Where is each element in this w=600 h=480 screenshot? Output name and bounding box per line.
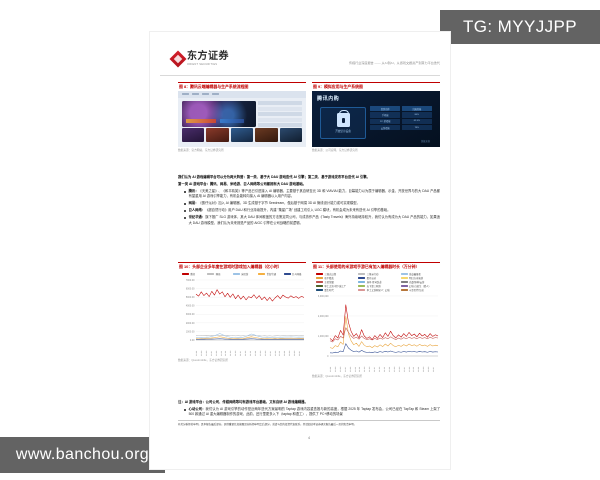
list-item: 网易：《蛋仔派对》加入 AI 编辑器，3D 生成基于字节 Seedream，做后…	[178, 201, 440, 206]
logo-text-en: ORIENT SECURITIES	[187, 64, 229, 67]
svg-text:7000.00: 7000.00	[186, 279, 195, 282]
bullet-label: 巨人网络：	[189, 208, 205, 212]
chart-svg: 7000.006000.005000.004000.003000.002000.…	[178, 278, 306, 342]
chart-10-caption: 图 10：头部企业多年度在游戏时游戏加入编辑器（亿小时）	[178, 262, 306, 271]
orient-securities-logo: 东方证券 ORIENT SECURITIES	[172, 52, 229, 66]
legend-item: 斗罗历代/互动	[401, 288, 440, 292]
header-divider	[160, 75, 440, 76]
chart-10-legend: 腾讯网易米哈游世纪华通巨人网络	[178, 271, 306, 278]
chart-svg: 3,000,0002,000,0001,000,0000	[312, 294, 440, 358]
figure-9-source: 数据来源：公司官网，东方证券研究所	[312, 147, 440, 152]
svg-text:1,000,000: 1,000,000	[318, 335, 329, 338]
x-tick-label: 23-09	[350, 358, 355, 372]
legend-label: 斗罗历代/互动	[409, 288, 424, 292]
x-tick-label: 26-07	[299, 342, 304, 356]
legend-swatch	[182, 273, 189, 274]
chart-11-source: 数据来源：Questmobile，东方证券研究所	[312, 372, 440, 378]
x-tick-label: 25-07	[270, 342, 275, 356]
legend-item: 腾讯	[182, 272, 204, 276]
bullet-label: 心动公司：	[189, 407, 206, 411]
legend-item: 米哈游	[233, 272, 255, 276]
legend-item: 重生时代	[316, 288, 355, 292]
hero-banner	[182, 101, 256, 127]
table-row: 手机端86%	[370, 112, 432, 117]
legend-swatch	[401, 285, 408, 286]
figure-9: 图 9：模拟应用与生产系统图 腾讯内购 开放显示设备 类别名称归属终端 手机端8…	[312, 82, 440, 152]
legend-label: 率土之滨网易 2：幻塔	[367, 288, 390, 292]
x-tick-label: 25-03	[394, 358, 399, 372]
legend-swatch	[316, 273, 323, 274]
legend-swatch	[316, 281, 323, 282]
chart-11-caption: 图 11：头部使用的米游戏手游已有加入编辑器时长（万分钟）	[312, 262, 440, 271]
document-header: 东方证券 ORIENT SECURITIES 传媒行业深度报告 —— 从AI到A…	[150, 50, 450, 76]
legend-swatch	[358, 285, 365, 286]
chart-figure-11: 图 11：头部使用的米游戏手游已有加入编辑器时长（万分钟） 三国志幻想三角洲行动…	[312, 262, 440, 378]
legend-item: 网易	[207, 272, 229, 276]
diamond-logo-icon	[170, 51, 187, 68]
figure-8-image	[178, 91, 306, 147]
legend-label: 网易	[216, 272, 221, 276]
table-row: 云游戏端78%	[370, 125, 432, 130]
bullet-text: 我们认为 AI 游戏引擎的动作是近两年迭代方案最明的 Taptap 游戏内容重迭…	[189, 407, 440, 416]
panel-icon-label: 开放显示设备	[335, 129, 351, 133]
figure-8-caption: 图 8：腾讯云端编辑器与生产系统流程图	[178, 82, 306, 91]
legend-label: 米哈游	[241, 272, 248, 276]
svg-text:5000.00: 5000.00	[186, 296, 195, 299]
panel-note: 数据来源	[421, 139, 430, 143]
lock-icon	[337, 113, 350, 127]
body-text-block: 我们认为 AI 游戏编辑平台可以分为两大阵营：第一类、基于大 DAU 游戏迭代 …	[178, 175, 440, 228]
legend-swatch	[358, 277, 365, 278]
series-line	[330, 305, 438, 341]
bullet-dot-icon	[184, 217, 186, 219]
x-tick-label: 23-09	[216, 342, 221, 356]
bullet-list: 腾讯：《天美之星》、《和平精英》等产品已引进接入 AI 编辑器，主要基于其自研至…	[178, 189, 440, 226]
list-item: 心动公司：我们认为 AI 游戏引擎的动作是近两年迭代方案最明的 Taptap 游…	[178, 407, 440, 418]
x-tick-label: 23-07	[211, 342, 216, 356]
panel-table: 类别名称归属终端 手机端86% PC·游戏端61.5% 云游戏端78%	[370, 106, 432, 130]
watermark-bottom-left: www.banchou.org	[0, 437, 165, 473]
list-item: 世纪华通：旗下推广 SLG 游戏体，其大 DAU 体间覆盖的方法策定同公司，与成…	[178, 215, 440, 226]
legend-swatch	[358, 281, 365, 282]
game-tiles	[182, 128, 302, 142]
svg-text:3,000,000: 3,000,000	[318, 295, 329, 298]
bullet-text: 《蛋仔派对》加入 AI 编辑器，3D 生成基于字节 Seedream，做后基于网…	[198, 201, 359, 205]
legend-label: 巨人网络	[292, 272, 301, 276]
svg-text:4000.00: 4000.00	[186, 305, 195, 308]
bullet-label: 网易：	[189, 201, 199, 205]
legend-swatch	[233, 273, 240, 274]
list-item: 腾讯：《天美之星》、《和平精英》等产品已引进接入 AI 编辑器，主要基于其自研至…	[178, 189, 440, 200]
bullet-dot-icon	[184, 409, 186, 411]
bullet-dot-icon	[184, 191, 186, 193]
legend-swatch	[401, 277, 408, 278]
sidebar-list	[258, 101, 302, 127]
legend-label: 重生时代	[324, 288, 333, 292]
legend-label: 腾讯	[190, 272, 195, 276]
series-line	[196, 290, 304, 301]
figure-9-caption: 图 9：模拟应用与生产系统图	[312, 82, 440, 91]
bullet-dot-icon	[184, 203, 186, 205]
x-tick-label: 26-07	[433, 358, 438, 372]
legend-item: 率土之滨网易 2：幻塔	[358, 288, 397, 292]
logo-text-cn: 东方证券	[187, 52, 229, 62]
bullet-text: 旗下推广 SLG 游戏体，其大 DAU 体间覆盖的方法策定同公司，与成熟作产品《…	[189, 215, 440, 224]
chart-figure-10: 图 10：头部企业多年度在游戏时游戏加入编辑器（亿小时） 腾讯网易米哈游世纪华通…	[178, 262, 306, 378]
note-after-charts: 注：AI 游戏平台：公司公司、传媒网络等均有游戏平台基础，又有自研 AI 游戏编…	[178, 400, 440, 405]
figure-row-top: 图 8：腾讯云端编辑器与生产系统流程图 数据来源：官方网站，东方证券研究所	[178, 82, 440, 152]
bullet-text: 《天美之星》、《和平精英》等产品已引进接入 AI 编辑器，主要基于其自研至元 3…	[189, 189, 440, 198]
x-tick-label: 23-05	[340, 358, 345, 372]
x-tick-label: 23-07	[345, 358, 350, 372]
intro-line-1: 我们认为 AI 游戏编辑平台可以分为两大阵营：第一类、基于大 DAU 游戏迭代 …	[178, 175, 440, 180]
legend-swatch	[401, 273, 408, 274]
legend-swatch	[316, 277, 323, 278]
bullet-label: 腾讯：	[189, 189, 199, 193]
bullet-text: 《超自然行动》用户 DAU 和行业持续提升，内建 "集星广场" 创建工坊引入 U…	[205, 208, 390, 212]
bullet-dot-icon	[184, 210, 186, 212]
panel-title: 腾讯内购	[317, 95, 339, 102]
figure-8-source: 数据来源：官方网站，东方证券研究所	[178, 147, 306, 152]
x-tick-label: 25-03	[260, 342, 265, 356]
legend-swatch	[258, 273, 265, 274]
legend-swatch	[284, 273, 291, 274]
screenshot-root: TG: MYYJJPP www.banchou.org 东方证券 ORIENT …	[0, 0, 600, 480]
header-subtitle: 传媒行业深度报告 —— 从AI到AI，从游戏文娱资产到算力平台迭代	[349, 60, 440, 65]
series-line	[330, 316, 438, 348]
intro-line-2: 第一类 AI 游戏平台：腾讯、网易、米哈游、巨人网络等公司都拥有大 DAU 游戏…	[178, 182, 440, 187]
legend-swatch	[401, 289, 408, 290]
bullet-label: 世纪华通：	[189, 215, 206, 219]
watermark-top-right: TG: MYYJJPP	[440, 10, 600, 44]
legend-swatch	[358, 273, 365, 274]
chart-10-plot-area: 7000.006000.005000.004000.003000.002000.…	[178, 278, 306, 356]
svg-text:1000.00: 1000.00	[186, 330, 195, 333]
x-tick-label: 25-05	[265, 342, 270, 356]
legend-swatch	[316, 289, 323, 290]
page-number: 4	[178, 427, 440, 440]
legend-item: 世纪华通	[258, 272, 280, 276]
chart-11-x-axis: 23-0123-0323-0523-0723-0923-1124-0124-03…	[330, 358, 438, 372]
bottom-text-block: 注：AI 游戏平台：公司公司、传媒网络等均有游戏平台基础，又有自研 AI 游戏编…	[178, 400, 440, 440]
figure-8: 图 8：腾讯云端编辑器与生产系统流程图 数据来源：官方网站，东方证券研究所	[178, 82, 306, 152]
x-tick-label: 25-07	[404, 358, 409, 372]
figure-9-image: 腾讯内购 开放显示设备 类别名称归属终端 手机端86% PC·游戏端61.5% …	[312, 91, 440, 147]
chart-row: 图 10：头部企业多年度在游戏时游戏加入编辑器（亿小时） 腾讯网易米哈游世纪华通…	[178, 262, 440, 378]
list-item: 巨人网络：《超自然行动》用户 DAU 和行业持续提升，内建 "集星广场" 创建工…	[178, 208, 440, 213]
svg-text:2000.00: 2000.00	[186, 322, 195, 325]
svg-text:6000.00: 6000.00	[186, 288, 195, 291]
series-line	[196, 335, 304, 336]
chart-10-source: 数据来源：Questmobile，东方证券研究所	[178, 356, 306, 362]
svg-text:3000.00: 3000.00	[186, 313, 195, 316]
legend-swatch	[316, 285, 323, 286]
chart-10-x-axis: 23-0123-0323-0523-0723-0923-1124-0124-03…	[196, 342, 304, 356]
document-page: 东方证券 ORIENT SECURITIES 传媒行业深度报告 —— 从AI到A…	[150, 32, 450, 469]
legend-label: 世纪华通	[267, 272, 276, 276]
legend-swatch	[401, 281, 408, 282]
chart-11-legend: 三国志幻想三角洲行动奇迹最强者和平精英蛋仔派对明日方舟端游王者荣耀崩坏·星穹铁道…	[312, 271, 440, 294]
svg-text:2,000,000: 2,000,000	[318, 315, 329, 318]
chart-11-plot-area: 3,000,0002,000,0001,000,0000 23-0123-032…	[312, 294, 440, 372]
svg-text:0: 0	[327, 355, 329, 358]
table-row: PC·游戏端61.5%	[370, 119, 432, 124]
svg-text:0.00: 0.00	[190, 339, 195, 342]
x-tick-label: 25-05	[399, 358, 404, 372]
panel-icon-box: 开放显示设备	[320, 107, 366, 139]
legend-swatch	[207, 273, 214, 274]
legend-swatch	[358, 289, 365, 290]
legend-item: 巨人网络	[284, 272, 306, 276]
x-tick-label: 23-05	[206, 342, 211, 356]
table-row: 类别名称归属终端	[370, 106, 432, 111]
